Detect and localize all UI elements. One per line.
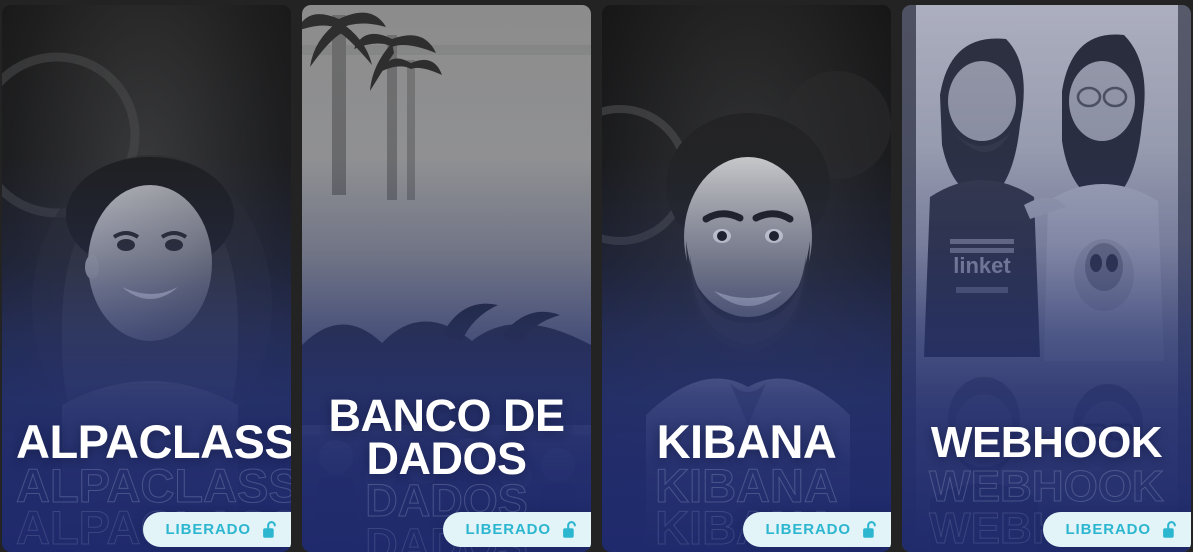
status-badge-label: LIBERADO xyxy=(465,521,551,538)
status-badge[interactable]: LIBERADO xyxy=(743,512,891,547)
course-title-ghost-near: ALPACLASS xyxy=(16,463,277,508)
status-badge-label: LIBERADO xyxy=(165,521,251,538)
status-badge[interactable]: LIBERADO xyxy=(1043,512,1191,547)
status-badge-label: LIBERADO xyxy=(1065,521,1151,538)
course-title: BANCO DE DADOS xyxy=(316,394,577,480)
course-title: KIBANA xyxy=(616,419,877,464)
unlock-icon xyxy=(262,520,279,540)
course-title-ghost-near: KIBANA xyxy=(616,463,877,508)
course-title-ghost-near: WEBHOOK xyxy=(916,466,1177,508)
course-card-carousel: ALPACLASS ALPACLASS ALPACLASS LIBERADO xyxy=(0,0,1193,552)
course-card-banco-de-dados[interactable]: DADOS DADOS BANCO DE DADOS LIBERADO xyxy=(302,5,591,552)
status-badge[interactable]: LIBERADO xyxy=(443,512,591,547)
course-card-webhook[interactable]: linket xyxy=(902,5,1191,552)
course-title: WEBHOOK xyxy=(916,422,1177,464)
course-card-kibana[interactable]: KIBANA KIBANA KIBANA LIBERADO xyxy=(602,5,891,552)
status-badge-label: LIBERADO xyxy=(765,521,851,538)
course-title: ALPACLASS xyxy=(16,419,277,464)
unlock-icon xyxy=(1162,520,1179,540)
course-card-alpaclass[interactable]: ALPACLASS ALPACLASS ALPACLASS LIBERADO xyxy=(2,5,291,552)
unlock-icon xyxy=(562,520,579,540)
unlock-icon xyxy=(862,520,879,540)
status-badge[interactable]: LIBERADO xyxy=(143,512,291,547)
